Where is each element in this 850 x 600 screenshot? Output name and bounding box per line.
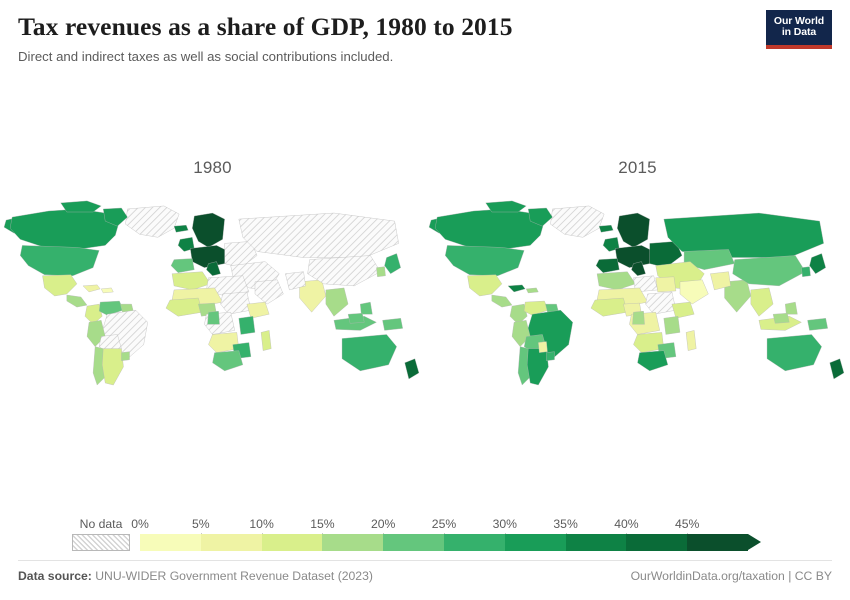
legend-tick-label-5: 25%: [432, 517, 456, 531]
country-arabia: [680, 280, 708, 304]
country-canada-arctic: [61, 201, 101, 212]
panel-title-1980: 1980: [0, 150, 425, 178]
footer-source: Data source: UNU-WIDER Government Revenu…: [18, 569, 373, 583]
country-paraguay: [538, 342, 547, 353]
legend-bin-0[interactable]: [140, 534, 201, 551]
country-sudan: [221, 292, 251, 314]
country-east-africa: [664, 316, 680, 334]
legend-tick-label-8: 40%: [614, 517, 638, 531]
country-uruguay: [121, 352, 129, 361]
page-title: Tax revenues as a share of GDP, 1980 to …: [18, 12, 832, 42]
country-madagascar: [686, 330, 696, 350]
owid-logo-line2: in Data: [782, 27, 816, 38]
country-central-america: [492, 295, 512, 307]
country-borneo: [773, 313, 789, 323]
country-korea: [376, 267, 385, 277]
country-south-africa: [638, 351, 668, 371]
legend-tick-label-7: 35%: [553, 517, 577, 531]
world-map-2015[interactable]: [425, 192, 850, 400]
country-iberia: [596, 259, 619, 273]
country-united-states: [445, 245, 524, 275]
country-canada: [10, 209, 119, 249]
country-uruguay: [546, 352, 554, 361]
legend-bin-7[interactable]: [566, 534, 627, 551]
legend-bins[interactable]: [140, 534, 748, 551]
legend-tick-label-2: 10%: [249, 517, 273, 531]
country-mexico: [468, 275, 502, 296]
country-hispaniola: [526, 288, 538, 293]
legend-arrow-icon: [748, 534, 761, 550]
country-cameroon: [207, 311, 219, 324]
country-ethiopia: [672, 302, 694, 318]
country-west-africa: [591, 298, 627, 316]
country-mexico: [43, 275, 77, 296]
legend-ticks: 0%5%10%15%20%25%30%35%40%45%: [140, 505, 748, 534]
legend-tick-label-0: 0%: [131, 517, 149, 531]
country-maghreb: [597, 272, 635, 290]
country-west-africa: [166, 298, 202, 316]
country-central-america: [67, 295, 87, 307]
country-sudan: [646, 292, 676, 314]
world-map-1980[interactable]: [0, 192, 425, 400]
country-cuba: [508, 285, 525, 292]
countries-1980: [4, 201, 419, 385]
map-panels: 1980: [0, 150, 850, 400]
legend-bin-1[interactable]: [201, 534, 262, 551]
country-hispaniola: [101, 288, 113, 293]
legend-bin-8[interactable]: [626, 534, 687, 551]
chart-footer: Data source: UNU-WIDER Government Revenu…: [18, 560, 832, 591]
country-united-states: [20, 245, 99, 275]
legend-tick-label-1: 5%: [192, 517, 210, 531]
country-nordics: [192, 213, 224, 247]
country-southeast-asia: [326, 288, 348, 316]
country-australia: [767, 334, 822, 370]
chart-root: Tax revenues as a share of GDP, 1980 to …: [0, 0, 850, 600]
country-new-zealand: [405, 359, 419, 379]
legend-bin-6[interactable]: [505, 534, 566, 551]
country-nordics: [617, 213, 649, 247]
footer-source-text: UNU-WIDER Government Revenue Dataset (20…: [95, 569, 373, 583]
country-japan: [385, 254, 401, 274]
world-map-svg-2015: [425, 192, 850, 400]
legend-bin-2[interactable]: [262, 534, 323, 551]
country-southeast-asia: [751, 288, 773, 316]
country-australia: [342, 334, 397, 370]
country-japan: [810, 254, 826, 274]
country-egypt: [656, 277, 676, 292]
country-iceland: [599, 225, 613, 232]
country-iceland: [174, 225, 188, 232]
countries-2015: [429, 201, 844, 385]
country-ethiopia: [247, 302, 269, 318]
country-south-africa: [213, 351, 243, 371]
country-madagascar: [261, 330, 271, 350]
country-philippines: [360, 302, 372, 314]
legend-bin-3[interactable]: [322, 534, 383, 551]
country-iberia: [171, 259, 194, 273]
footer-link[interactable]: OurWorldinData.org/taxation | CC BY: [631, 569, 832, 583]
map-panel-1980: 1980: [0, 150, 425, 400]
country-east-africa: [239, 316, 255, 334]
country-russia: [664, 213, 824, 258]
country-canada-arctic: [486, 201, 526, 212]
country-greenland: [125, 206, 179, 237]
country-borneo: [348, 313, 364, 323]
chart-subtitle: Direct and indirect taxes as well as soc…: [18, 49, 832, 66]
country-argentina: [527, 349, 548, 385]
legend-tick-label-6: 30%: [493, 517, 517, 531]
map-panel-2015: 2015: [425, 150, 850, 400]
country-arabia: [255, 280, 283, 304]
country-greenland: [550, 206, 604, 237]
legend-tick-label-3: 15%: [310, 517, 334, 531]
legend-no-data-label: No data: [72, 517, 130, 531]
country-papua-new-guinea: [808, 318, 828, 330]
legend-tick-label-9: 45%: [675, 517, 699, 531]
legend-bin-5[interactable]: [444, 534, 505, 551]
legend-bin-9[interactable]: [687, 534, 748, 551]
country-canada: [435, 209, 544, 249]
country-philippines: [785, 302, 797, 314]
country-papua-new-guinea: [383, 318, 403, 330]
country-cuba: [83, 285, 100, 292]
country-new-zealand: [830, 359, 844, 379]
legend-bin-4[interactable]: [383, 534, 444, 551]
country-argentina: [102, 349, 123, 385]
owid-logo[interactable]: Our World in Data: [766, 10, 832, 49]
footer-source-label: Data source:: [18, 569, 92, 583]
country-cameroon: [632, 311, 644, 324]
country-korea: [801, 267, 810, 277]
panel-title-2015: 2015: [425, 150, 850, 178]
country-maghreb: [172, 272, 210, 290]
legend-no-data-swatch[interactable]: [72, 534, 130, 551]
legend-tick-label-4: 20%: [371, 517, 395, 531]
country-ussr: [239, 213, 399, 258]
world-map-svg-1980: [0, 192, 425, 400]
map-legend: No data 0%5%10%15%20%25%30%35%40%45%: [0, 505, 850, 555]
chart-header: Tax revenues as a share of GDP, 1980 to …: [18, 12, 832, 66]
